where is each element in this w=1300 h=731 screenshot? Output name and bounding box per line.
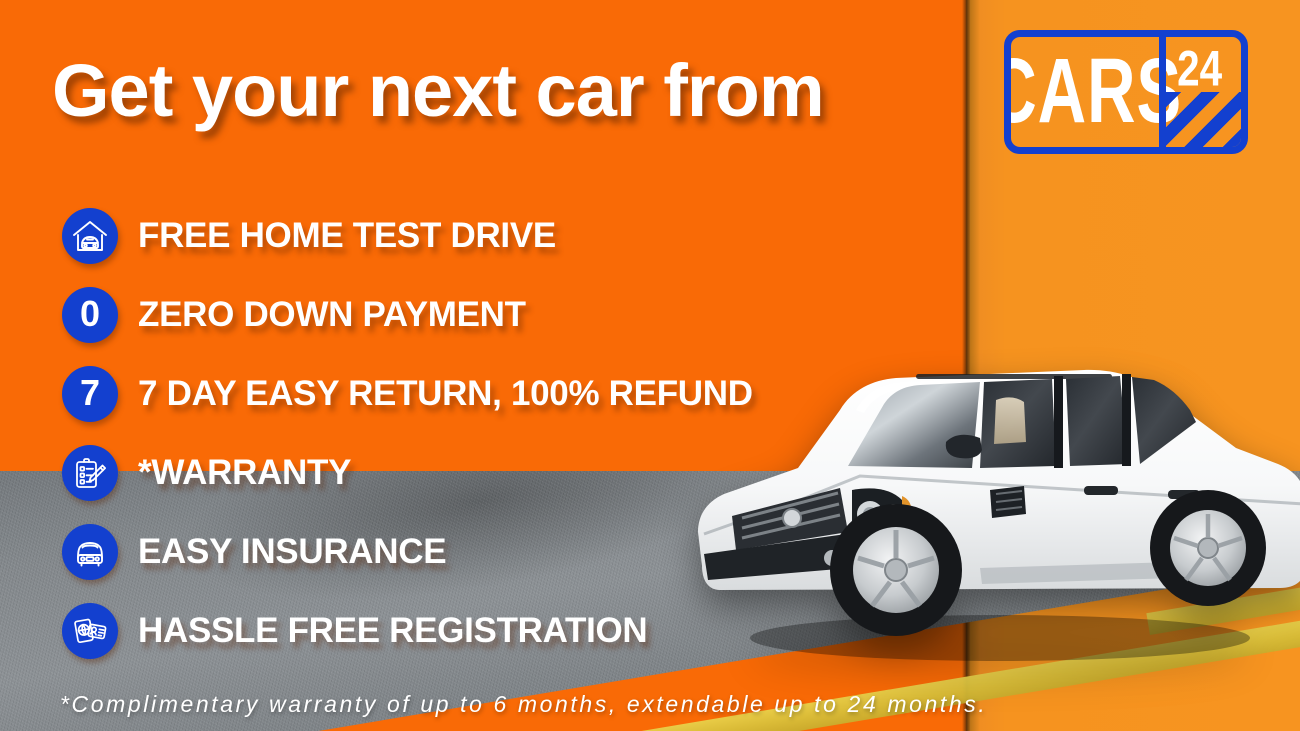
feature-item-zero-down-payment[interactable]: 0 ZERO DOWN PAYMENT	[62, 275, 822, 354]
home-garage-car-icon	[62, 208, 118, 264]
feature-item-hassle-free-registration[interactable]: HASSLE FREE REGISTRATION	[62, 591, 822, 670]
logo-divider	[1159, 37, 1166, 147]
feature-label: 7 DAY EASY RETURN, 100% REFUND	[138, 374, 753, 414]
clipboard-pen-icon	[62, 445, 118, 501]
feature-item-free-home-test-drive[interactable]: FREE HOME TEST DRIVE	[62, 196, 822, 275]
logo-number: 24	[1177, 43, 1222, 93]
disclaimer-text: *Complimentary warranty of up to 6 month…	[60, 691, 1290, 718]
feature-label: EASY INSURANCE	[138, 532, 446, 572]
page-title: Get your next car from	[52, 52, 972, 130]
passport-id-card-icon	[62, 603, 118, 659]
icon-glyph: 0	[80, 296, 100, 332]
logo-number-area: 24	[1166, 37, 1241, 147]
feature-label: *WARRANTY	[138, 453, 351, 493]
feature-label: HASSLE FREE REGISTRATION	[138, 611, 647, 651]
car-front-icon	[62, 524, 118, 580]
logo-wordmark-area: CARS	[1011, 37, 1159, 147]
zero-numeral-icon: 0	[62, 287, 118, 343]
feature-item-seven-day-easy-return[interactable]: 7 7 DAY EASY RETURN, 100% REFUND	[62, 354, 822, 433]
seven-numeral-icon: 7	[62, 366, 118, 422]
logo-wordmark: CARS	[1004, 46, 1182, 138]
icon-glyph: 7	[80, 375, 100, 411]
cars24-logo[interactable]: CARS 24	[1004, 30, 1248, 154]
feature-label: ZERO DOWN PAYMENT	[138, 295, 526, 335]
cars24-promo-banner: Get your next car from CARS 24	[0, 0, 1300, 731]
logo-diagonal-stripes	[1166, 92, 1241, 147]
feature-item-warranty[interactable]: *WARRANTY	[62, 433, 822, 512]
feature-label: FREE HOME TEST DRIVE	[138, 216, 556, 256]
feature-item-easy-insurance[interactable]: EASY INSURANCE	[62, 512, 822, 591]
feature-list: FREE HOME TEST DRIVE 0 ZERO DOWN PAYMENT…	[62, 196, 822, 670]
